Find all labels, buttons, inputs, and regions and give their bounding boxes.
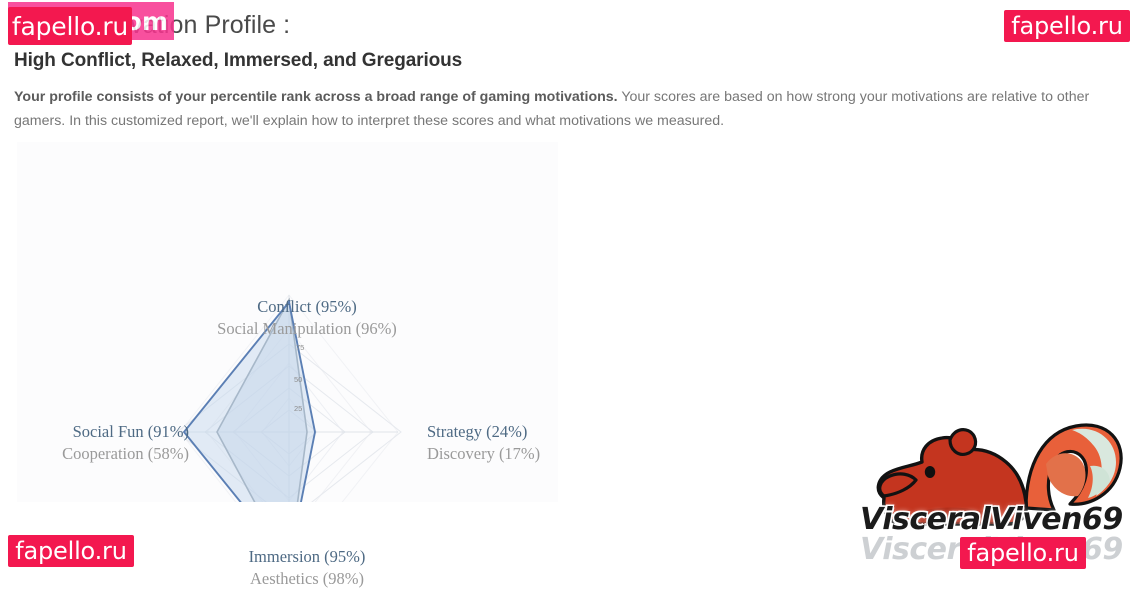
- watermark-fapello-top-left: fapello.ru: [8, 7, 132, 45]
- watermark-fapello-bottom-left: fapello.ru: [8, 535, 134, 567]
- radar-label-strategy-secondary: Discovery (17%): [427, 443, 667, 465]
- profile-summary-heading: High Conflict, Relaxed, Immersed, and Gr…: [14, 48, 1120, 74]
- radar-label-immersion: Immersion (95%) Aesthetics (98%): [167, 546, 447, 589]
- radar-label-immersion-secondary: Aesthetics (98%): [167, 568, 447, 589]
- intro-bold-lead: Your profile consists of your percentile…: [14, 89, 618, 105]
- radar-label-conflict: Conflict (95%) Social Manipulation (96%): [137, 296, 477, 339]
- radar-label-immersion-primary: Immersion (95%): [167, 546, 447, 568]
- radar-label-social-fun-primary: Social Fun (91%): [17, 421, 189, 443]
- radar-label-strategy: Strategy (24%) Discovery (17%): [427, 421, 667, 464]
- radar-chart-card: 75 50 25 Conflict (95%) Social Manipulat…: [17, 142, 558, 502]
- radar-label-social-fun-secondary: Cooperation (58%): [17, 443, 189, 465]
- radar-label-conflict-secondary: Social Manipulation (96%): [137, 318, 477, 340]
- radar-label-conflict-primary: Conflict (95%): [137, 296, 477, 318]
- report-header: ames Motivation Profile : High Conflict,…: [14, 8, 1120, 133]
- page-title: ames Motivation Profile :: [14, 8, 1120, 42]
- radar-tick-25: 25: [294, 404, 302, 413]
- radar-label-strategy-primary: Strategy (24%): [427, 421, 667, 443]
- watermark-fapello-bottom-right: fapello.ru: [960, 537, 1086, 569]
- radar-tick-75: 75: [296, 343, 304, 352]
- radar-tick-50: 50: [294, 375, 302, 384]
- report-page: ames Motivation Profile : High Conflict,…: [0, 0, 1134, 577]
- intro-paragraph: Your profile consists of your percentile…: [14, 85, 1120, 133]
- logo-text: VisceralViven69: [860, 502, 1123, 537]
- watermark-fapello-top-right: fapello.ru: [1004, 10, 1130, 42]
- radar-label-social-fun: Social Fun (91%) Cooperation (58%): [17, 421, 189, 464]
